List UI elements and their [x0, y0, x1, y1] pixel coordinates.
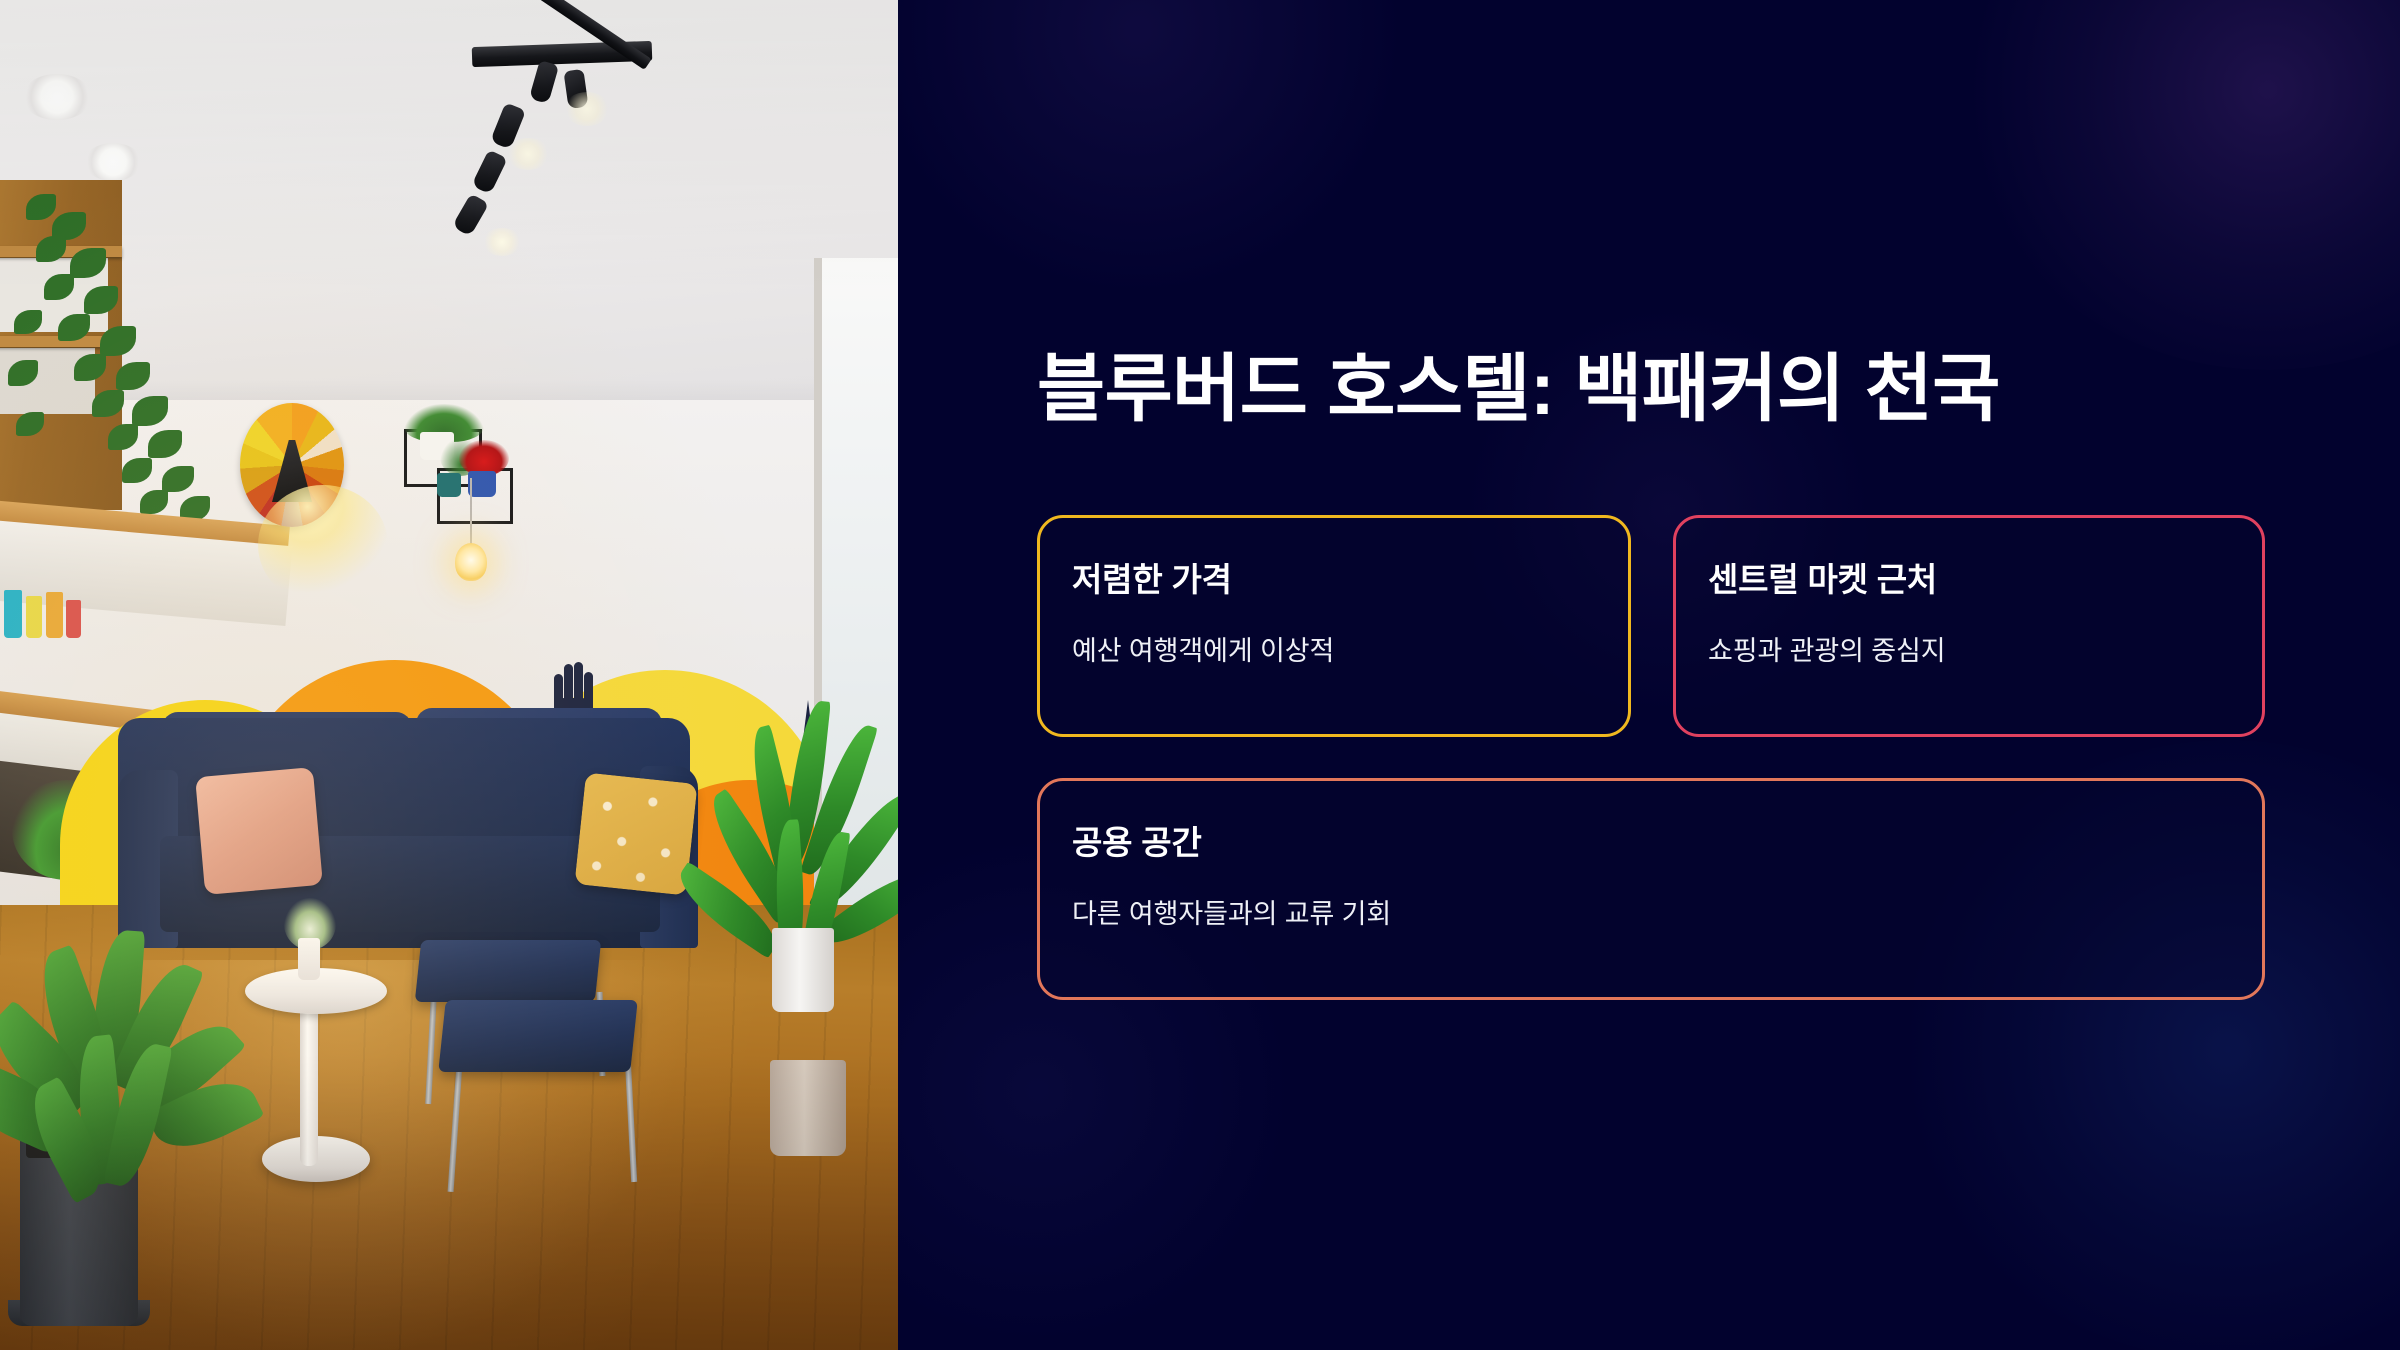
spotlight-glow [506, 138, 550, 170]
spotlight-glow [482, 228, 522, 256]
page-title: 블루버드 호스텔: 백패커의 천국 [1037, 345, 2217, 432]
recessed-downlight-icon [84, 143, 142, 181]
hostel-common-room-photo [0, 0, 898, 1350]
palm-planter [770, 1060, 846, 1156]
spotlight-glow [564, 92, 610, 126]
blue-leather-bench [438, 1000, 638, 1072]
potted-floor-plant [0, 930, 230, 1210]
recessed-downlight-icon [22, 74, 92, 120]
presentation-slide: 블루버드 호스텔: 백패커의 천국 저렴한 가격 예산 여행객에게 이상적 센트… [0, 0, 2400, 1350]
card-description: 다른 여행자들과의 교류 기회 [1072, 897, 2230, 932]
white-vase [298, 938, 320, 980]
pink-pillow [195, 767, 323, 895]
side-table-stem [300, 1000, 318, 1166]
card-description: 쇼핑과 관광의 중심지 [1708, 634, 2230, 669]
content-panel: 블루버드 호스텔: 백패커의 천국 저렴한 가격 예산 여행객에게 이상적 센트… [898, 0, 2400, 1350]
card-description: 예산 여행객에게 이상적 [1072, 634, 1596, 669]
card-title: 센트럴 마켓 근처 [1708, 560, 2230, 600]
white-planter [772, 928, 834, 1012]
feature-card-location[interactable]: 센트럴 마켓 근처 쇼핑과 관광의 중심지 [1673, 515, 2265, 737]
feature-card-budget[interactable]: 저렴한 가격 예산 여행객에게 이상적 [1037, 515, 1631, 737]
gold-pillow [574, 772, 697, 895]
cone-lamp-glow [258, 485, 388, 605]
card-title: 공용 공간 [1072, 823, 2230, 863]
blue-leather-bench [415, 940, 602, 1002]
feature-card-common-area[interactable]: 공용 공간 다른 여행자들과의 교류 기회 [1037, 778, 2265, 1000]
card-title: 저렴한 가격 [1072, 560, 1596, 600]
